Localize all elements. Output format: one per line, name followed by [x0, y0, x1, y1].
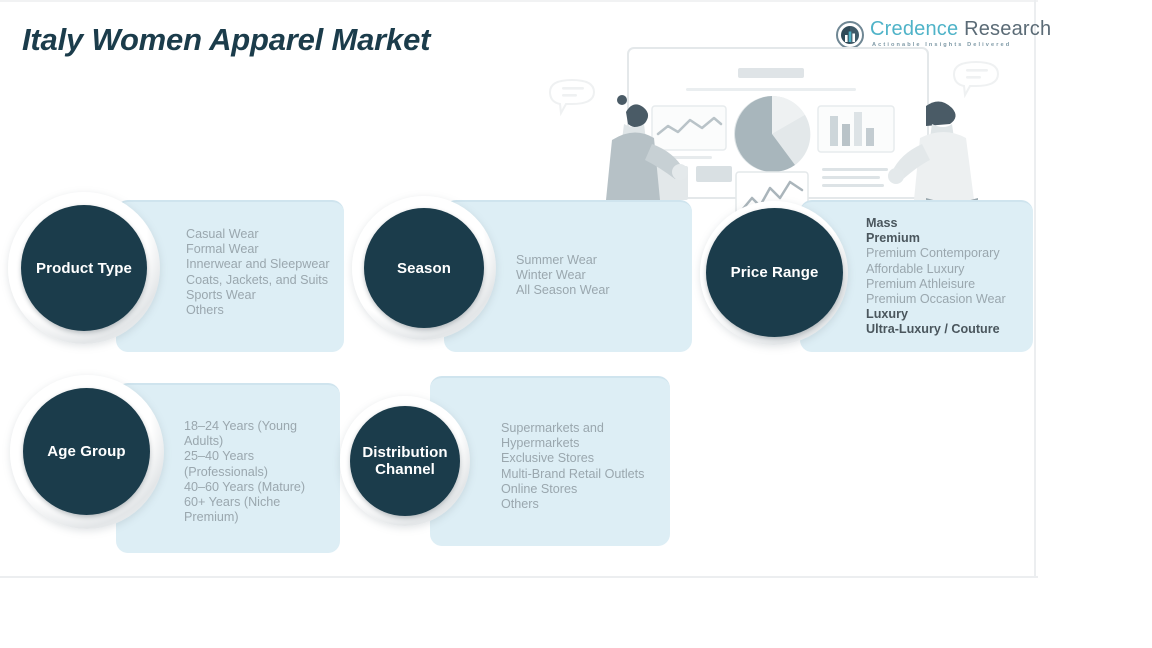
segment-item: Coats, Jackets, and Suits: [186, 273, 361, 288]
segment-bubble-age-group[interactable]: Age Group: [23, 388, 150, 515]
segment-items-product-type: Casual WearFormal WearInnerwear and Slee…: [186, 227, 361, 318]
segment-item: Luxury: [866, 307, 1036, 322]
segment-item: 60+ Years (Niche Premium): [184, 495, 318, 525]
segment-item: Premium: [866, 231, 1036, 246]
segment-item: Multi-Brand Retail Outlets: [501, 467, 676, 482]
segment-item: Exclusive Stores: [501, 451, 676, 466]
segment-item: 25–40 Years (Professionals): [184, 449, 318, 479]
segment-item: 18–24 Years (Young Adults): [184, 419, 318, 449]
segment-items-age-group: 18–24 Years (Young Adults)25–40 Years (P…: [184, 419, 318, 525]
segment-items-distribution-channel: Supermarkets and HypermarketsExclusive S…: [501, 421, 676, 512]
segment-item: Ultra-Luxury / Couture: [866, 322, 1036, 337]
segment-item: Supermarkets and Hypermarkets: [501, 421, 676, 451]
infographic-canvas: Italy Women Apparel Market Credence Rese…: [0, 0, 1152, 648]
brand-name-primary: Credence: [870, 18, 958, 40]
segment-item: Mass: [866, 216, 1036, 231]
segment-item: Formal Wear: [186, 242, 361, 257]
segment-item: Premium Occasion Wear: [866, 292, 1036, 307]
segment-item: Premium Contemporary: [866, 246, 1036, 261]
page-title: Italy Women Apparel Market: [22, 22, 430, 58]
segment-bubble-product-type[interactable]: Product Type: [21, 205, 147, 331]
segment-items-season: Summer WearWinter WearAll Season Wear: [516, 253, 696, 299]
segment-item: Others: [501, 497, 676, 512]
segment-bubble-season[interactable]: Season: [364, 208, 484, 328]
segment-item: Innerwear and Sleepwear: [186, 257, 361, 272]
segment-item: Casual Wear: [186, 227, 361, 242]
segment-item: Online Stores: [501, 482, 676, 497]
segment-item: All Season Wear: [516, 283, 696, 298]
segment-bubble-price-range[interactable]: Price Range: [706, 208, 843, 337]
segment-bubble-distribution-channel[interactable]: Distribution Channel: [350, 406, 460, 516]
segment-item: 40–60 Years (Mature): [184, 480, 318, 495]
segment-item: Premium Athleisure: [866, 277, 1036, 292]
segment-item: Sports Wear: [186, 288, 361, 303]
segment-item: Summer Wear: [516, 253, 696, 268]
segment-item: Affordable Luxury: [866, 262, 1036, 277]
frame-bottom-rule: [0, 576, 1038, 578]
brand-name-secondary: Research: [964, 18, 1051, 40]
segment-items-price-range: MassPremiumPremium ContemporaryAffordabl…: [866, 216, 1036, 338]
frame-top-rule: [0, 0, 1038, 2]
segment-item: Winter Wear: [516, 268, 696, 283]
brand-name: Credence Research: [870, 18, 1051, 41]
segment-item: Others: [186, 303, 361, 318]
